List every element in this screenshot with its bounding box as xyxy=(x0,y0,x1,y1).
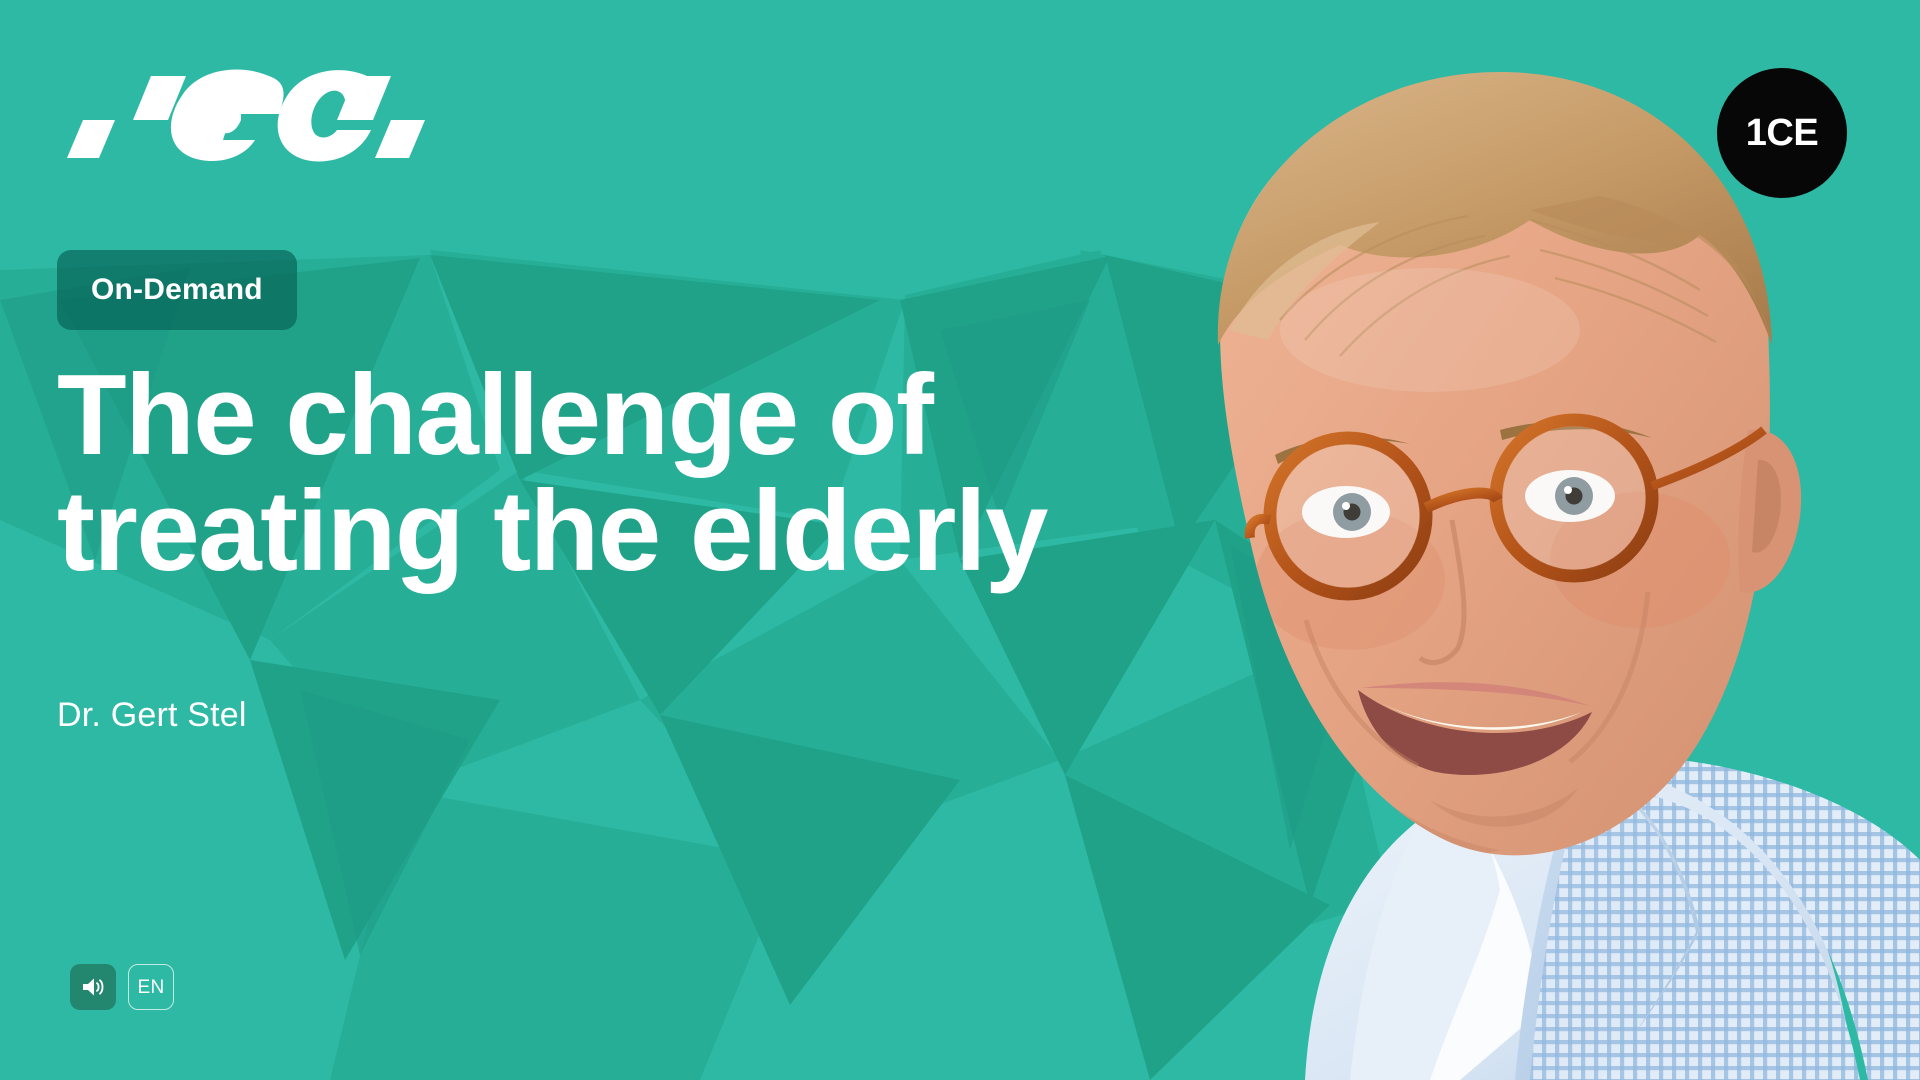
speaker-volume-icon xyxy=(81,976,105,998)
sound-toggle-button[interactable] xyxy=(70,964,116,1010)
language-selector-label: EN xyxy=(138,978,165,997)
title-line-2: treating the elderly xyxy=(57,468,1047,595)
1ce-badge-label: 1CE xyxy=(1746,114,1818,152)
page-title: The challenge of treating the elderly xyxy=(57,330,1137,589)
webinar-title-card: 1CE On-Demand The challenge of treating … xyxy=(0,0,1920,1080)
language-selector-button[interactable]: EN xyxy=(128,964,174,1010)
content-column: On-Demand The challenge of treating the … xyxy=(57,250,1177,736)
gc-logo[interactable] xyxy=(55,58,435,163)
on-demand-badge-label: On-Demand xyxy=(91,275,263,305)
on-demand-badge: On-Demand xyxy=(57,250,297,330)
player-controls: EN xyxy=(70,964,174,1010)
title-line-1: The challenge of xyxy=(57,352,932,479)
speaker-name: Dr. Gert Stel xyxy=(57,589,1177,736)
1ce-badge[interactable]: 1CE xyxy=(1717,68,1847,198)
